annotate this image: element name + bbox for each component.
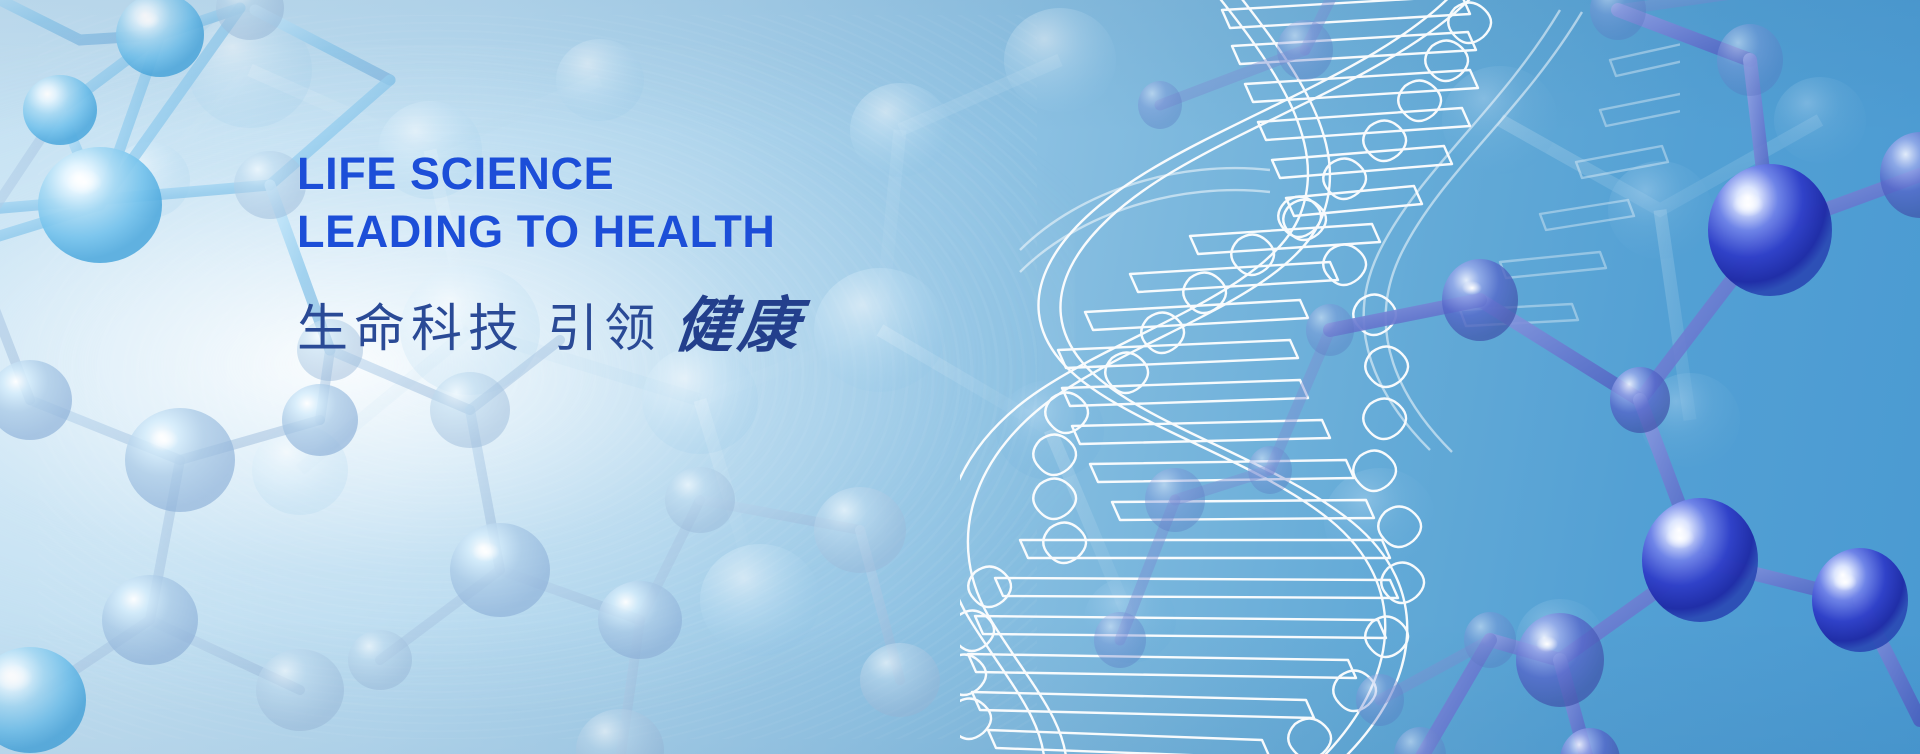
chinese-tagline-main: 生命科技 引领 xyxy=(297,287,661,361)
headline-line-1: LIFE SCIENCE xyxy=(297,146,803,201)
chinese-tagline-brush: 健康 xyxy=(671,277,808,364)
hero-banner: LIFE SCIENCE LEADING TO HEALTH 生命科技 引领 健… xyxy=(0,0,1920,754)
headline-block: LIFE SCIENCE LEADING TO HEALTH 生命科技 引领 健… xyxy=(297,146,803,364)
chinese-tagline: 生命科技 引领 健康 xyxy=(297,277,803,364)
right-molecule-lattice xyxy=(0,0,1920,754)
headline-line-2: LEADING TO HEALTH xyxy=(297,204,803,259)
